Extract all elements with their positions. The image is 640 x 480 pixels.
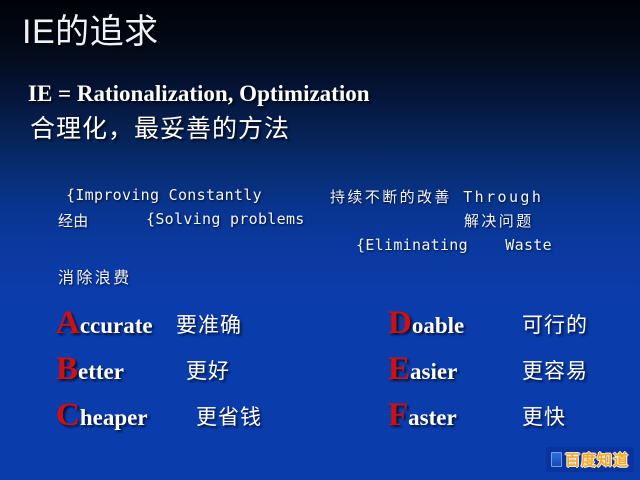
table-row: Cheaper 更省钱 Faster 更快 xyxy=(0,397,640,443)
term-initial: C xyxy=(56,397,80,433)
principle-eliminating-en: {Eliminating Waste xyxy=(356,236,552,254)
term-better-translation: 更好 xyxy=(186,355,230,385)
principle-through-cn: 经由 xyxy=(58,210,89,231)
principle-eliminating-cn: 消除浪费 xyxy=(58,264,132,288)
table-row: Accurate 要准确 Doable 可行的 xyxy=(0,305,640,351)
table-row: Better 更好 Easier 更容易 xyxy=(0,351,640,397)
principle-improving-cn: 持续不断的改善 Through xyxy=(330,186,543,207)
term-cheaper: Cheaper xyxy=(56,397,148,434)
term-initial: B xyxy=(56,351,78,387)
term-rest: heaper xyxy=(80,405,148,430)
term-easier-translation: 更容易 xyxy=(522,355,588,385)
term-rest: oable xyxy=(412,313,464,338)
baidu-logo-icon xyxy=(551,452,562,467)
term-doable-translation: 可行的 xyxy=(522,309,588,339)
abcdef-table: Accurate 要准确 Doable 可行的 Better 更好 Easier… xyxy=(0,305,640,443)
watermark-label: 百度知道 xyxy=(565,449,629,470)
principle-solving-en: {Solving problems xyxy=(146,210,305,228)
term-initial: F xyxy=(388,397,408,433)
term-faster-translation: 更快 xyxy=(522,401,566,431)
subtitle-english: IE = Rationalization, Optimization xyxy=(28,80,370,108)
term-rest: ccurate xyxy=(80,313,153,338)
term-initial: E xyxy=(388,351,410,387)
term-rest: asier xyxy=(410,359,457,384)
term-doable: Doable xyxy=(388,305,464,342)
slide-canvas: IE的追求 IE = Rationalization, Optimization… xyxy=(0,0,640,480)
term-easier: Easier xyxy=(388,351,457,388)
term-rest: aster xyxy=(408,405,457,430)
term-rest: etter xyxy=(78,359,124,384)
page-title: IE的追求 xyxy=(22,10,159,54)
term-accurate: Accurate xyxy=(56,305,153,342)
subtitle-chinese: 合理化，最妥善的方法 xyxy=(30,113,290,145)
principle-improving-en: {Improving Constantly xyxy=(66,186,262,204)
term-faster: Faster xyxy=(388,397,457,434)
term-better: Better xyxy=(56,351,124,388)
principles-block: {Improving Constantly 持续不断的改善 Through 经由… xyxy=(0,186,640,296)
term-cheaper-translation: 更省钱 xyxy=(196,401,262,431)
principle-solving-cn: 解决问题 xyxy=(464,210,534,231)
term-initial: A xyxy=(56,305,80,341)
watermark: 百度知道 xyxy=(546,447,634,472)
term-initial: D xyxy=(388,305,412,341)
term-accurate-translation: 要准确 xyxy=(176,309,242,339)
